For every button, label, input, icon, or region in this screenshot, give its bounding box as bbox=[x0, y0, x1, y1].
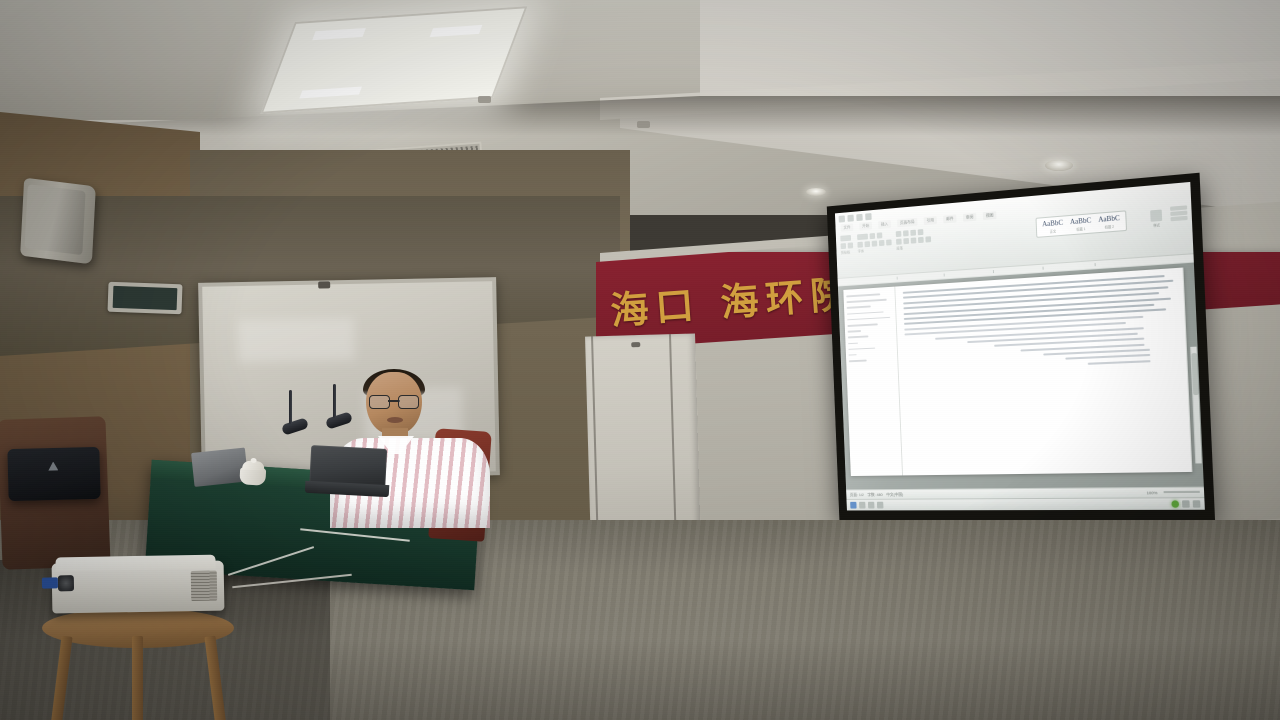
tab-home[interactable]: 开始 bbox=[859, 222, 872, 231]
tab-review[interactable]: 审阅 bbox=[963, 213, 977, 222]
document-page[interactable] bbox=[843, 268, 1192, 477]
font-group[interactable]: 字体 bbox=[857, 232, 892, 255]
projector-top bbox=[55, 555, 215, 572]
word-application-window: 文件 开始 插入 页面布局 引用 邮件 审阅 视图 bbox=[835, 182, 1205, 511]
save-icon[interactable] bbox=[839, 215, 845, 222]
clipboard-group-label: 剪贴板 bbox=[841, 250, 854, 256]
document-canvas[interactable] bbox=[838, 263, 1204, 490]
word-status-bar[interactable]: 页面: 1/2 字数: 480 中文(中国) 100% bbox=[846, 487, 1204, 499]
copy-icon[interactable] bbox=[848, 242, 854, 248]
lens-left bbox=[369, 395, 390, 409]
stool-leg bbox=[204, 636, 226, 720]
stool-leg bbox=[132, 636, 143, 720]
align-left-icon[interactable] bbox=[896, 239, 902, 245]
clock-icon[interactable] bbox=[1193, 500, 1201, 507]
text-color-icon[interactable] bbox=[886, 239, 892, 245]
wall-door-panel[interactable] bbox=[585, 334, 701, 552]
lens-right bbox=[398, 395, 419, 409]
wall-sign-face bbox=[113, 286, 178, 310]
bullets-icon[interactable] bbox=[896, 231, 902, 237]
page-indicator: 页面: 1/2 bbox=[850, 492, 864, 498]
strikethrough-icon[interactable] bbox=[879, 240, 885, 246]
whiteboard-smudge bbox=[238, 318, 355, 362]
laptop-bag bbox=[7, 447, 100, 501]
ceiling-fixture bbox=[637, 121, 650, 128]
font-name-box[interactable] bbox=[857, 234, 868, 241]
projector-cable-plug bbox=[42, 577, 58, 588]
document-gutter-column bbox=[843, 287, 903, 476]
wall-speaker bbox=[20, 178, 96, 265]
line-spacing-icon[interactable] bbox=[918, 237, 924, 243]
redo-icon[interactable] bbox=[856, 214, 863, 221]
customize-qat-icon[interactable] bbox=[865, 213, 872, 220]
styles-group-label: 样式 bbox=[1153, 222, 1160, 228]
editing-group[interactable] bbox=[1170, 205, 1188, 221]
vertical-scrollbar[interactable] bbox=[1190, 347, 1202, 464]
tray-icon[interactable] bbox=[1182, 500, 1190, 507]
tab-insert[interactable]: 插入 bbox=[878, 220, 891, 229]
document-text-column[interactable] bbox=[895, 268, 1192, 476]
door-knob-icon[interactable] bbox=[631, 342, 640, 347]
ceiling-fixture bbox=[478, 96, 491, 103]
downlight-icon bbox=[1045, 160, 1073, 171]
word-icon[interactable] bbox=[859, 502, 866, 509]
stool-leg bbox=[50, 636, 72, 720]
tab-file[interactable]: 文件 bbox=[841, 223, 854, 232]
language-indicator[interactable]: 中文(中国) bbox=[886, 491, 903, 497]
clipboard-group[interactable]: 剪贴板 bbox=[840, 235, 853, 256]
whiteboard-clip-icon bbox=[318, 281, 330, 288]
indent-icon[interactable] bbox=[918, 229, 924, 235]
projection-screen-surface: 文件 开始 插入 页面布局 引用 邮件 审阅 视图 bbox=[835, 182, 1205, 511]
align-right-icon[interactable] bbox=[911, 237, 917, 243]
tab-mailings[interactable]: 邮件 bbox=[943, 214, 956, 223]
style-normal[interactable]: AaBbC 正文 bbox=[1040, 218, 1066, 234]
change-styles-button[interactable]: 样式 bbox=[1150, 209, 1162, 228]
microphone-gooseneck bbox=[289, 390, 292, 424]
shading-icon[interactable] bbox=[925, 236, 931, 242]
style-heading-1[interactable]: AaBbC 标题 1 bbox=[1067, 216, 1094, 232]
zoom-slider[interactable] bbox=[1164, 491, 1200, 493]
green-status-icon[interactable] bbox=[1171, 500, 1179, 507]
font-group-label: 字体 bbox=[858, 247, 892, 254]
lamp-tube bbox=[313, 28, 367, 40]
door-seam bbox=[669, 334, 677, 549]
bag-logo-icon bbox=[48, 461, 58, 470]
windows-taskbar[interactable] bbox=[846, 497, 1204, 510]
microphone-gooseneck bbox=[333, 384, 336, 418]
zoom-level[interactable]: 100% bbox=[1147, 490, 1158, 495]
ribbon-groups: 剪贴板 bbox=[840, 207, 1188, 255]
presenter-laptop bbox=[305, 445, 391, 497]
conference-room-photo: 海口 海环院环境 bbox=[0, 0, 1280, 720]
lamp-tube bbox=[299, 86, 362, 99]
paragraph-group-label: 段落 bbox=[896, 244, 931, 252]
change-styles-icon[interactable] bbox=[1150, 209, 1162, 221]
scrollbar-thumb[interactable] bbox=[1191, 353, 1198, 395]
bold-icon[interactable] bbox=[857, 242, 863, 248]
tab-view[interactable]: 视图 bbox=[983, 211, 997, 220]
video-projector bbox=[51, 555, 224, 620]
downlight-icon bbox=[806, 188, 826, 196]
browser-icon[interactable] bbox=[877, 502, 884, 509]
wall-sign-panel bbox=[107, 282, 182, 315]
paragraph-group[interactable]: 段落 bbox=[896, 228, 932, 251]
align-center-icon[interactable] bbox=[903, 238, 909, 244]
multilevel-list-icon[interactable] bbox=[910, 230, 916, 236]
cut-icon[interactable] bbox=[841, 243, 847, 249]
projector-vent-grille bbox=[191, 571, 218, 601]
projection-screen: 文件 开始 插入 页面布局 引用 邮件 审阅 视图 bbox=[827, 173, 1215, 521]
wooden-stool bbox=[42, 608, 234, 720]
italic-icon[interactable] bbox=[865, 241, 871, 247]
start-icon[interactable] bbox=[850, 502, 856, 509]
lamp-tube bbox=[429, 25, 483, 37]
numbering-icon[interactable] bbox=[903, 230, 909, 236]
paste-button[interactable] bbox=[840, 235, 851, 242]
grow-font-icon[interactable] bbox=[877, 232, 883, 238]
underline-icon[interactable] bbox=[872, 241, 878, 247]
presenter-mouth bbox=[387, 417, 403, 423]
lidded-teacup bbox=[239, 458, 266, 485]
folder-icon[interactable] bbox=[868, 502, 875, 509]
font-size-box[interactable] bbox=[870, 233, 876, 239]
tab-page-layout[interactable]: 页面布局 bbox=[897, 218, 917, 227]
projector-lens-icon bbox=[58, 575, 74, 591]
word-count: 字数: 480 bbox=[867, 492, 882, 498]
style-heading-2[interactable]: AaBbC 标题 2 bbox=[1096, 214, 1123, 230]
eyeglasses-icon bbox=[369, 395, 419, 407]
undo-icon[interactable] bbox=[847, 215, 853, 222]
tab-references[interactable]: 引用 bbox=[924, 216, 937, 225]
